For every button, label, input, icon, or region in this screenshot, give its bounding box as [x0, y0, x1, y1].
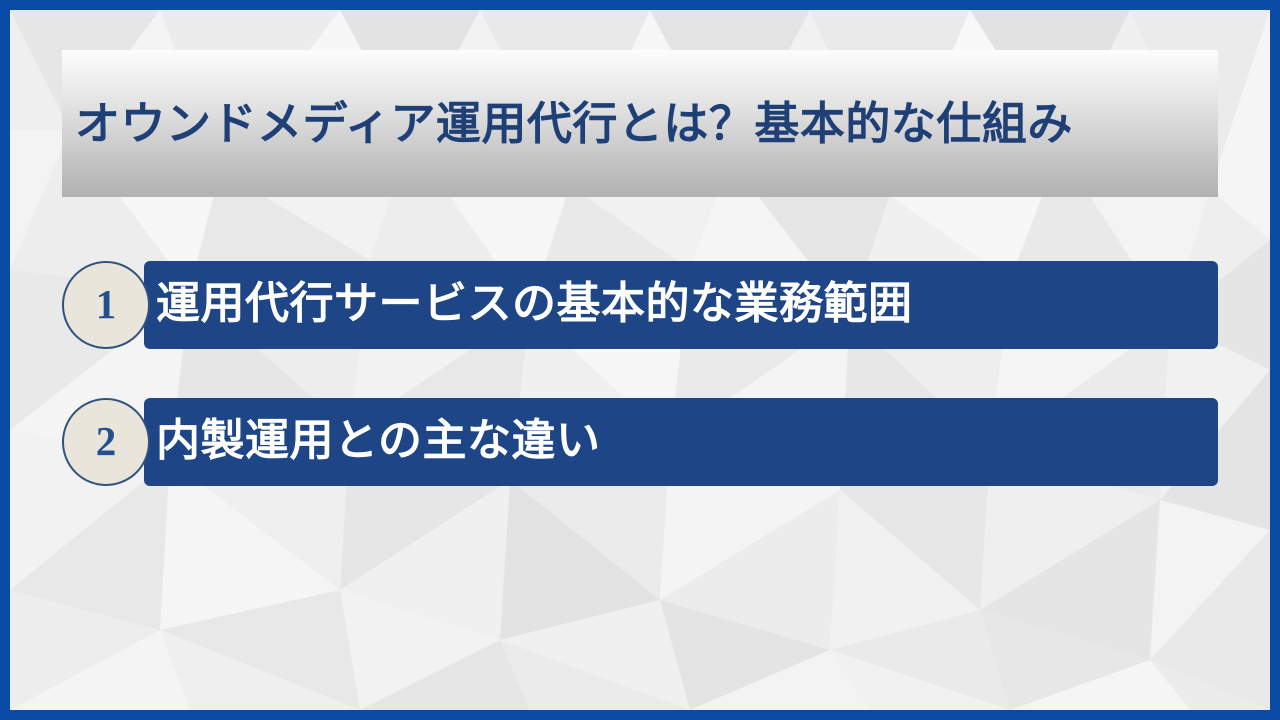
number-badge: 2 — [62, 398, 150, 486]
item-bar[interactable]: 運用代行サービスの基本的な業務範囲 — [144, 261, 1218, 349]
badge-number-label: 2 — [96, 421, 117, 464]
item-label: 内製運用との主な違い — [156, 419, 601, 466]
title-banner: オウンドメディア運用代行とは？基本的な仕組み — [62, 50, 1218, 197]
item-label: 運用代行サービスの基本的な業務範囲 — [156, 282, 913, 329]
number-badge: 1 — [62, 261, 150, 349]
badge-number-label: 1 — [96, 284, 117, 327]
slide-frame: オウンドメディア運用代行とは？基本的な仕組み 1 運用代行サービスの基本的な業務… — [0, 0, 1280, 720]
list-item[interactable]: 2 内製運用との主な違い — [62, 396, 1218, 488]
slide-canvas: オウンドメディア運用代行とは？基本的な仕組み 1 運用代行サービスの基本的な業務… — [10, 10, 1270, 710]
item-bar[interactable]: 内製運用との主な違い — [144, 398, 1218, 486]
list-item[interactable]: 1 運用代行サービスの基本的な業務範囲 — [62, 259, 1218, 351]
page-title: オウンドメディア運用代行とは？基本的な仕組み — [75, 99, 1073, 149]
